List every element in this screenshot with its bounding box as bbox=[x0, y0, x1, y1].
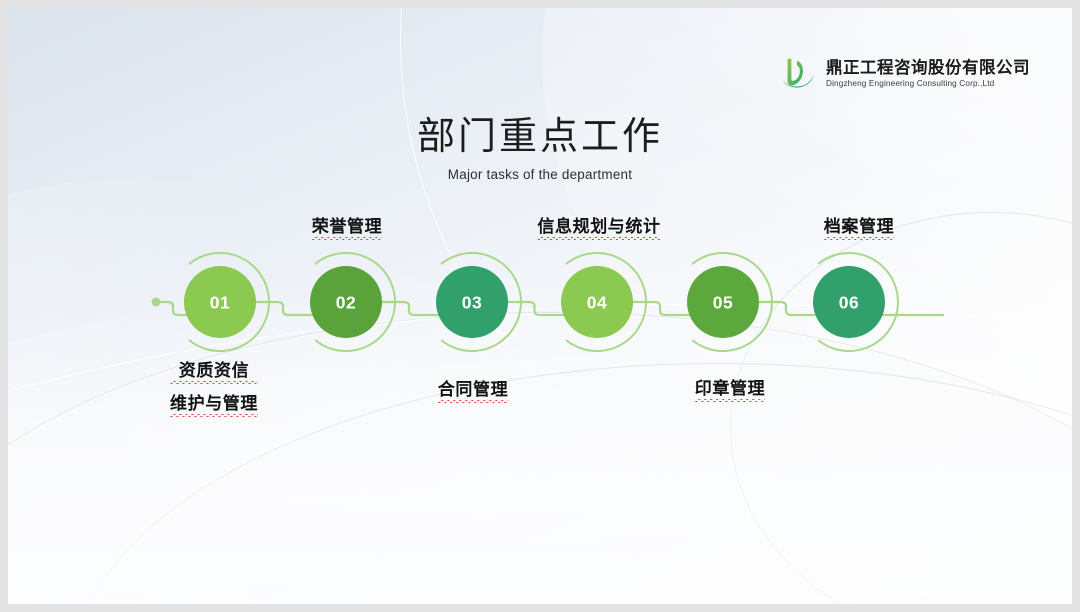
timeline-connector bbox=[506, 302, 563, 315]
process-timeline: 010203040506 资质资信维护与管理荣誉管理合同管理信息规划与统计印章管… bbox=[8, 8, 1072, 604]
timeline-node-circle[interactable] bbox=[813, 266, 885, 338]
timeline-node-label-line: 荣誉管理 bbox=[312, 212, 382, 240]
timeline-node-label: 印章管理 bbox=[695, 374, 765, 402]
timeline-connector bbox=[380, 302, 438, 315]
timeline-node-label: 荣誉管理 bbox=[312, 212, 382, 240]
timeline-node-label-line: 合同管理 bbox=[438, 375, 508, 403]
timeline-connector bbox=[254, 302, 312, 315]
timeline-graphics bbox=[8, 8, 1072, 604]
timeline-node-circle[interactable] bbox=[436, 266, 508, 338]
timeline-node-label: 合同管理 bbox=[438, 375, 508, 403]
timeline-node-circle[interactable] bbox=[310, 266, 382, 338]
slide-canvas: 鼎正工程咨询股份有限公司 Dingzheng Engineering Consu… bbox=[8, 8, 1072, 604]
timeline-node-label-line: 信息规划与统计 bbox=[537, 212, 660, 240]
timeline-node-label-line: 维护与管理 bbox=[170, 389, 258, 417]
timeline-node-label-line: 档案管理 bbox=[824, 212, 894, 240]
timeline-node-label-line: 资质资信 bbox=[170, 356, 258, 384]
timeline-connector bbox=[757, 302, 815, 315]
timeline-node-label: 资质资信维护与管理 bbox=[170, 356, 258, 417]
timeline-node-label-line: 印章管理 bbox=[695, 374, 765, 402]
timeline-connector bbox=[160, 302, 186, 315]
timeline-node-label: 档案管理 bbox=[824, 212, 894, 240]
timeline-node-label: 信息规划与统计 bbox=[537, 212, 660, 240]
timeline-node-circle[interactable] bbox=[687, 266, 759, 338]
timeline-connector bbox=[631, 302, 689, 315]
timeline-node-circle[interactable] bbox=[184, 266, 256, 338]
timeline-node-circle[interactable] bbox=[561, 266, 633, 338]
